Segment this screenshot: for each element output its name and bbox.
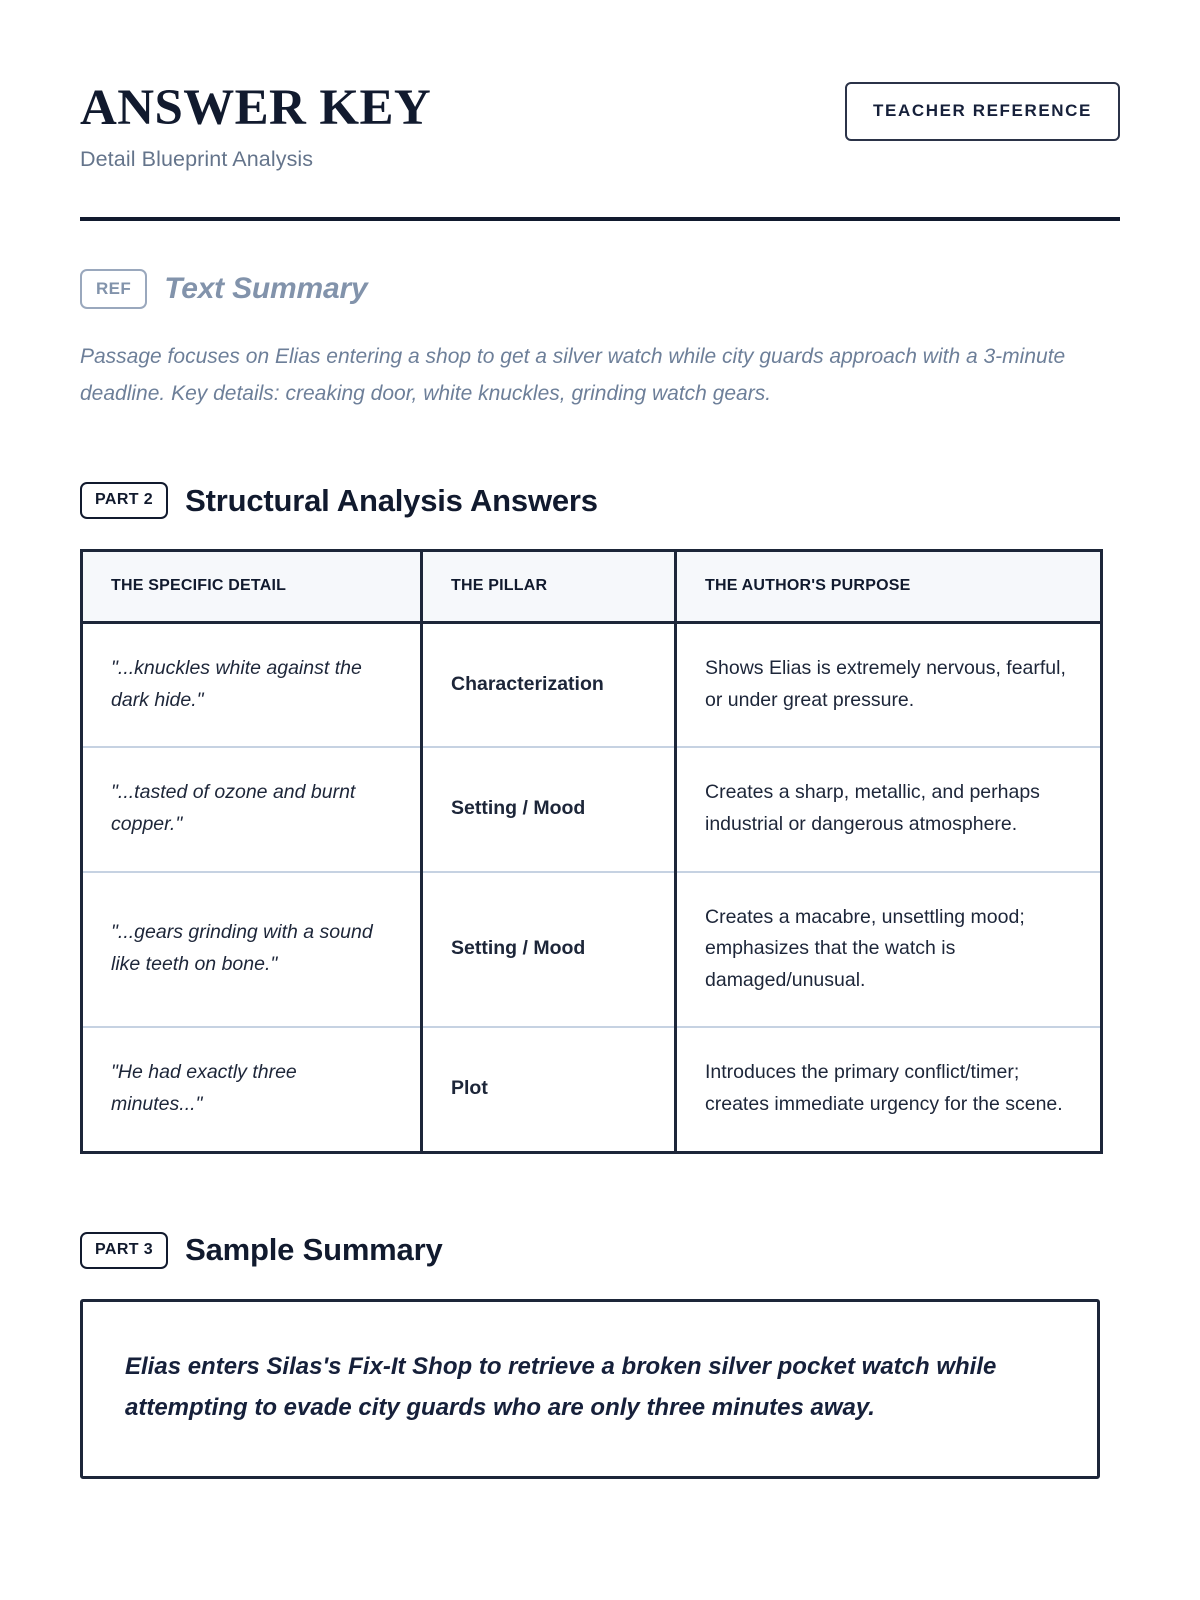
cell-pillar: Setting / Mood: [422, 872, 676, 1028]
cell-purpose: Creates a sharp, metallic, and perhaps i…: [676, 747, 1102, 871]
cell-pillar: Plot: [422, 1027, 676, 1152]
part3-heading-row: PART 3 Sample Summary: [80, 1232, 1120, 1269]
text-summary-section: REF Text Summary Passage focuses on Elia…: [80, 269, 1120, 413]
structural-analysis-table: THE SPECIFIC DETAIL THE PILLAR THE AUTHO…: [80, 549, 1103, 1153]
part3-title: Sample Summary: [185, 1232, 442, 1268]
header-divider: [80, 217, 1120, 221]
part2-heading-row: PART 2 Structural Analysis Answers: [80, 482, 1120, 519]
text-summary-heading-row: REF Text Summary: [80, 269, 1120, 309]
part2-tag: PART 2: [80, 482, 168, 519]
cell-purpose: Introduces the primary conflict/timer; c…: [676, 1027, 1102, 1152]
cell-detail: "...gears grinding with a sound like tee…: [82, 872, 422, 1028]
table-row: "...gears grinding with a sound like tee…: [82, 872, 1102, 1028]
cell-purpose: Creates a macabre, unsettling mood; emph…: [676, 872, 1102, 1028]
sample-summary-box: Elias enters Silas's Fix-It Shop to retr…: [80, 1299, 1100, 1479]
page-subtitle: Detail Blueprint Analysis: [80, 147, 431, 172]
cell-purpose: Shows Elias is extremely nervous, fearfu…: [676, 623, 1102, 748]
part3-section: PART 3 Sample Summary Elias enters Silas…: [80, 1232, 1120, 1479]
cell-pillar: Setting / Mood: [422, 747, 676, 871]
title-block: ANSWER KEY Detail Blueprint Analysis: [80, 78, 431, 172]
table-row: "...knuckles white against the dark hide…: [82, 623, 1102, 748]
cell-pillar: Characterization: [422, 623, 676, 748]
cell-detail: "...tasted of ozone and burnt copper.": [82, 747, 422, 871]
column-header-pillar: THE PILLAR: [422, 551, 676, 623]
table-row: "He had exactly three minutes..." Plot I…: [82, 1027, 1102, 1152]
sample-summary-text: Elias enters Silas's Fix-It Shop to retr…: [125, 1346, 1055, 1429]
answer-key-page: ANSWER KEY Detail Blueprint Analysis TEA…: [0, 0, 1200, 1600]
part2-section: PART 2 Structural Analysis Answers THE S…: [80, 482, 1120, 1153]
table-header-row: THE SPECIFIC DETAIL THE PILLAR THE AUTHO…: [82, 551, 1102, 623]
teacher-reference-badge: TEACHER REFERENCE: [845, 82, 1120, 141]
cell-detail: "He had exactly three minutes...": [82, 1027, 422, 1152]
document-header: ANSWER KEY Detail Blueprint Analysis TEA…: [80, 78, 1120, 172]
cell-detail: "...knuckles white against the dark hide…: [82, 623, 422, 748]
part2-title: Structural Analysis Answers: [185, 483, 598, 519]
column-header-purpose: THE AUTHOR'S PURPOSE: [676, 551, 1102, 623]
text-summary-body: Passage focuses on Elias entering a shop…: [80, 338, 1080, 413]
ref-tag: REF: [80, 269, 147, 309]
table-row: "...tasted of ozone and burnt copper." S…: [82, 747, 1102, 871]
column-header-detail: THE SPECIFIC DETAIL: [82, 551, 422, 623]
text-summary-title: Text Summary: [164, 272, 367, 306]
part3-tag: PART 3: [80, 1232, 168, 1269]
page-title: ANSWER KEY: [80, 82, 431, 136]
